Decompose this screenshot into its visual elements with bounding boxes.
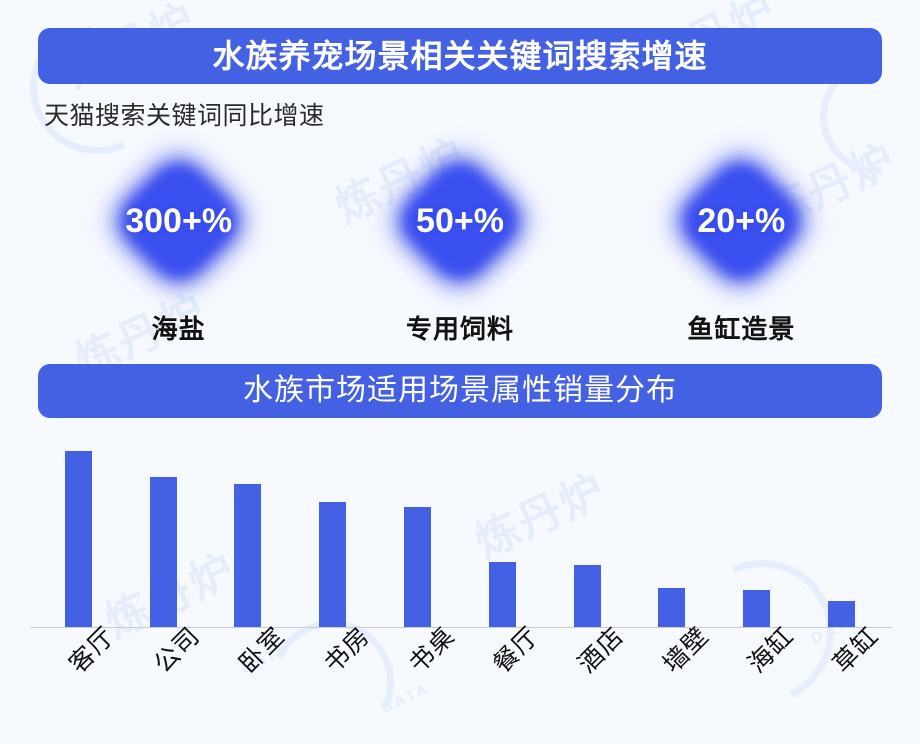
badge-value: 50+% (416, 204, 504, 238)
x-axis-label-slot: 草缸 (799, 630, 884, 740)
x-axis-label-slot: 海缸 (714, 630, 799, 740)
bar (404, 507, 431, 627)
x-axis-label-slot: 卧室 (206, 630, 291, 740)
x-axis-labels: 客厅公司卧室书房书桌餐厅酒店墙壁海缸草缸 (36, 630, 884, 740)
bar-slot (545, 430, 630, 627)
bar (150, 477, 177, 627)
bar-series (36, 430, 884, 627)
main-title-banner: 水族养宠场景相关关键词搜索增速 (38, 28, 882, 84)
bar-slot (36, 430, 121, 627)
bar-slot (460, 430, 545, 627)
growth-badge: 20+% 鱼缸造景 (601, 146, 882, 346)
x-axis-line (30, 627, 892, 628)
badge-label: 专用饲料 (406, 309, 514, 346)
growth-badge: 50+% 专用饲料 (319, 146, 600, 346)
sales-distribution-bar-chart: 客厅公司卧室书房书桌餐厅酒店墙壁海缸草缸 (0, 430, 920, 744)
badge-shape: 50+% (385, 146, 535, 295)
infographic-page: 水族养宠场景相关关键词搜索增速 天猫搜索关键词同比增速 300+% 海盐 50+… (0, 0, 920, 744)
bar (743, 590, 770, 627)
bar (828, 601, 855, 627)
bar-slot (121, 430, 206, 627)
badge-value: 20+% (697, 204, 785, 238)
main-title-text: 水族养宠场景相关关键词搜索增速 (212, 40, 707, 72)
badge-shape: 300+% (104, 146, 254, 295)
bar (234, 484, 261, 627)
subtitle-text: 天猫搜索关键词同比增速 (44, 96, 325, 132)
x-axis-label-slot: 书房 (290, 630, 375, 740)
bar-slot (206, 430, 291, 627)
bar-slot (799, 430, 884, 627)
bar (574, 565, 601, 627)
badge-value: 300+% (125, 204, 232, 238)
x-axis-label-slot: 餐厅 (460, 630, 545, 740)
badge-label: 海盐 (152, 309, 206, 346)
badge-label: 鱼缸造景 (687, 309, 795, 346)
bar (319, 502, 346, 627)
x-axis-label-slot: 书桌 (375, 630, 460, 740)
badge-shape: 20+% (666, 146, 816, 295)
bar (658, 588, 685, 627)
growth-badge: 300+% 海盐 (38, 146, 319, 346)
section-title-banner: 水族市场适用场景属性销量分布 (38, 364, 882, 418)
bar-slot (714, 430, 799, 627)
x-axis-label-slot: 墙壁 (630, 630, 715, 740)
x-axis-label-slot: 公司 (121, 630, 206, 740)
section-title-text: 水族市场适用场景属性销量分布 (243, 376, 677, 406)
bar-slot (290, 430, 375, 627)
bar (65, 451, 92, 627)
bar (489, 562, 516, 627)
growth-badge-row: 300+% 海盐 50+% 专用饲料 20+% 鱼缸造景 (38, 146, 882, 346)
bar-slot (375, 430, 460, 627)
x-axis-label-slot: 客厅 (36, 630, 121, 740)
x-axis-label-slot: 酒店 (545, 630, 630, 740)
bar-slot (630, 430, 715, 627)
